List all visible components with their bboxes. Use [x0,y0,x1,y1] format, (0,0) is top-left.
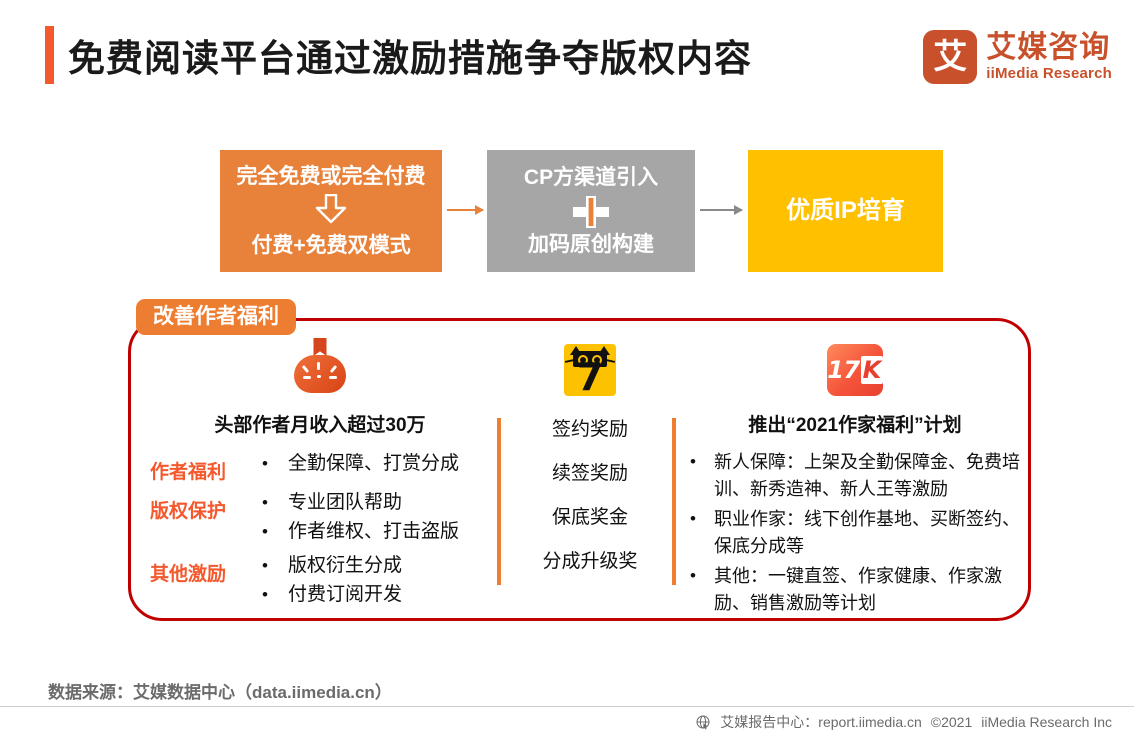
list-item-text: 版权衍生分成 [288,551,402,580]
slide-header: 免费阅读平台通过激励措施争夺版权内容 艾 艾媒咨询 iiMedia Resear… [0,0,1134,110]
plus-icon [569,195,613,229]
column-divider-1 [497,418,501,585]
17k-logo-text-2: K [861,356,883,384]
column-tomato-novel: 头部作者月收入超过30万 作者福利 • 全勤保障、打赏分成 版权保护 • 专业团… [150,330,490,614]
flow-connector-2 [700,209,742,211]
footer-report-center: 艾媒报告中心：report.iimedia.cn [720,712,922,732]
footer-copyright: ©2021 [931,714,972,730]
list-item: 续签奖励 [510,464,670,483]
seven-cats-logo-text: 7 [564,358,616,396]
list-item-text: 其他：一键直签、作家健康、作家激励、销售激励等计划 [714,563,1020,617]
column-seven-cats: 7 签约奖励 续签奖励 保底奖金 分成升级奖 [510,330,670,596]
group-items: • 专业团队帮助 • 作者维权、打击盗版 [262,488,490,547]
page-title: 免费阅读平台通过激励措施争夺版权内容 [68,28,752,82]
flow-box-ip-line1: 优质IP培育 [786,198,905,224]
flow-box-free-line2: 付费+免费双模式 [251,234,410,257]
flow-diagram: 完全免费或完全付费 付费+免费双模式 CP方渠道引入 加码原创构建 [0,150,1134,276]
flow-box-cp-channel: CP方渠道引入 加码原创构建 [487,150,695,272]
group-items: • 版权衍生分成 • 付费订阅开发 [262,551,490,610]
list-item: 签约奖励 [510,420,670,439]
group-label: 版权保护 [150,488,262,523]
list-item: 分成升级奖 [510,552,670,571]
flow-box-free-or-paid: 完全免费或完全付费 付费+免费双模式 [220,150,442,272]
arrow-head-icon [734,205,743,215]
list-item-text: 作者维权、打击盗版 [288,517,459,546]
list-item: • 新人保障：上架及全勤保障金、免费培训、新秀造神、新人王等激励 [690,449,1020,503]
globe-icon [696,715,711,730]
bullet-icon: • [690,563,714,589]
list-item: • 专业团队帮助 [262,488,490,517]
list-item: • 付费订阅开发 [262,580,490,609]
17k-logo-icon: 17 K [827,344,883,396]
list-item-text: 新人保障：上架及全勤保障金、免费培训、新秀造神、新人王等激励 [714,449,1020,503]
flow-box-cp-line2: 加码原创构建 [528,233,654,256]
k17-heading: 推出“2021作家福利”计划 [690,410,1020,437]
flow-connector-1 [447,209,483,211]
flow-box-quality-ip: 优质IP培育 [748,150,943,272]
slide-canvas: 免费阅读平台通过激励措施争夺版权内容 艾 艾媒咨询 iiMedia Resear… [0,0,1134,737]
footer-company: iiMedia Research Inc [981,714,1112,730]
group-row: 版权保护 • 专业团队帮助 • 作者维权、打击盗版 [150,488,490,547]
list-item: • 全勤保障、打赏分成 [262,449,490,478]
list-item-text: 付费订阅开发 [288,580,402,609]
seven-cats-logo-icon: 7 [564,344,616,396]
list-item: • 职业作家：线下创作基地、买断签约、保底分成等 [690,506,1020,560]
tomato-heading: 头部作者月收入超过30万 [150,410,490,437]
bullet-icon: • [262,553,288,579]
list-item: • 作者维权、打击盗版 [262,517,490,546]
iimedia-logo: 艾 艾媒咨询 iiMedia Research [923,26,1112,88]
k17-logo-row: 17 K [690,330,1020,396]
footer-bar: 艾媒报告中心：report.iimedia.cn ©2021 iiMedia R… [0,707,1134,737]
data-source-note: 数据来源：艾媒数据中心（data.iimedia.cn） [48,678,392,703]
list-item: 保底奖金 [510,508,670,527]
bullet-icon: • [262,582,288,608]
tomato-logo-row [150,330,490,396]
bullet-icon: • [262,490,288,516]
list-item: • 其他：一键直签、作家健康、作家激励、销售激励等计划 [690,563,1020,617]
bookmark-icon [314,338,327,356]
group-label: 其他激励 [150,551,262,586]
tomato-groups: 作者福利 • 全勤保障、打赏分成 版权保护 • 专业团队帮助 • [150,449,490,610]
group-items: • 全勤保障、打赏分成 [262,449,490,478]
column-17k: 17 K 推出“2021作家福利”计划 • 新人保障：上架及全勤保障金、免费培训… [690,330,1020,620]
seven-cats-logo-row: 7 [510,330,670,396]
panel-tab-label: 改善作者福利 [136,299,296,335]
logo-text: 艾媒咨询 iiMedia Research [986,32,1112,82]
group-row: 作者福利 • 全勤保障、打赏分成 [150,449,490,484]
logo-mark-icon: 艾 [923,30,977,84]
bullet-icon: • [262,519,288,545]
bullet-icon: • [690,449,714,475]
logo-name-cn: 艾媒咨询 [986,32,1112,64]
tomato-body [294,355,346,393]
list-item-text: 全勤保障、打赏分成 [288,449,459,478]
list-item-text: 职业作家：线下创作基地、买断签约、保底分成等 [714,506,1020,560]
tomato-novel-logo-icon [292,338,348,396]
list-item-text: 专业团队帮助 [288,488,402,517]
seven-cats-list: 签约奖励 续签奖励 保底奖金 分成升级奖 [510,420,670,571]
group-label: 作者福利 [150,449,262,484]
17k-logo-text-1: 17 [827,356,859,384]
bullet-icon: • [262,451,288,477]
arrow-head-icon [475,205,484,215]
logo-name-en: iiMedia Research [986,65,1112,82]
group-row: 其他激励 • 版权衍生分成 • 付费订阅开发 [150,551,490,610]
list-item: • 版权衍生分成 [262,551,490,580]
flow-box-free-line1: 完全免费或完全付费 [237,165,426,188]
bullet-icon: • [690,506,714,532]
flow-box-cp-line1: CP方渠道引入 [524,166,658,189]
k17-list: • 新人保障：上架及全勤保障金、免费培训、新秀造神、新人王等激励 • 职业作家：… [690,449,1020,617]
column-divider-2 [672,418,676,585]
title-accent-bar [45,26,54,84]
down-arrow-icon [314,194,348,229]
